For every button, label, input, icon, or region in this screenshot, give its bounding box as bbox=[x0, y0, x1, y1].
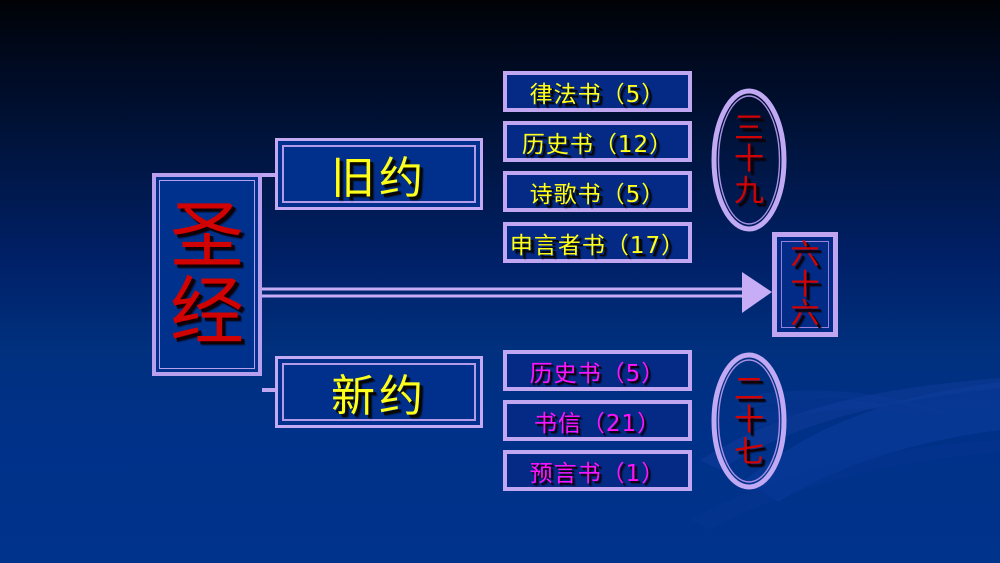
total-ellipse-old-testament[interactable]: 三 十 九 bbox=[710, 88, 788, 232]
list-item-nt-history[interactable]: 历史书（5） bbox=[503, 350, 692, 391]
total-ellipse-new-testament[interactable]: 二 十 七 bbox=[710, 352, 788, 490]
ot-total-char-2: 十 bbox=[734, 144, 764, 176]
arrow-root-to-grand-total bbox=[258, 272, 772, 313]
list-item-ot-prophets[interactable]: 申言者书（17） bbox=[503, 222, 692, 263]
grand-total-box[interactable]: 六 十 六 bbox=[772, 232, 838, 337]
old-testament-total-label: 三 十 九 bbox=[710, 88, 788, 232]
root-node-label: 圣 经 bbox=[156, 177, 258, 372]
nt-total-char-1: 二 bbox=[734, 374, 764, 406]
list-item-nt-epistles[interactable]: 书信（21） bbox=[503, 400, 692, 441]
list-item-nt-prophecy[interactable]: 预言书（1） bbox=[503, 450, 692, 491]
root-char-2: 经 bbox=[170, 275, 244, 350]
grand-total-char-1: 六 bbox=[790, 240, 819, 270]
ot-total-char-3: 九 bbox=[734, 176, 764, 208]
ot-total-char-1: 三 bbox=[734, 113, 764, 145]
arrowhead-icon bbox=[742, 272, 772, 313]
grand-total-char-3: 六 bbox=[790, 299, 819, 329]
new-testament-total-label: 二 十 七 bbox=[710, 352, 788, 490]
list-item-ot-history[interactable]: 历史书（12） bbox=[503, 121, 692, 162]
list-item-label: 预言书（1） bbox=[530, 454, 666, 488]
list-item-label: 诗歌书（5） bbox=[530, 175, 666, 209]
grand-total-char-2: 十 bbox=[790, 270, 819, 300]
branch-node-old-testament[interactable]: 旧约 bbox=[275, 138, 483, 210]
new-testament-label: 新约 bbox=[278, 359, 480, 425]
grand-total-label: 六 十 六 bbox=[777, 237, 833, 332]
list-item-label: 申言者书（17） bbox=[510, 226, 685, 260]
connector-lines bbox=[0, 0, 1000, 563]
root-char-1: 圣 bbox=[170, 199, 244, 274]
root-node-bible[interactable]: 圣 经 bbox=[152, 173, 262, 376]
list-item-label: 书信（21） bbox=[534, 404, 661, 438]
list-item-ot-poetry[interactable]: 诗歌书（5） bbox=[503, 171, 692, 212]
branch-node-new-testament[interactable]: 新约 bbox=[275, 356, 483, 428]
list-item-label: 律法书（5） bbox=[530, 75, 666, 109]
old-testament-label: 旧约 bbox=[278, 141, 480, 207]
nt-total-char-3: 七 bbox=[734, 437, 764, 469]
list-item-label: 历史书（5） bbox=[530, 354, 666, 388]
list-item-ot-law[interactable]: 律法书（5） bbox=[503, 71, 692, 112]
list-item-label: 历史书（12） bbox=[522, 125, 673, 159]
slide-canvas: 圣 经 旧约 新约 律法书（5） 历史书（12） 诗歌书（5） 申言者书（17）… bbox=[0, 0, 1000, 563]
nt-total-char-2: 十 bbox=[734, 405, 764, 437]
